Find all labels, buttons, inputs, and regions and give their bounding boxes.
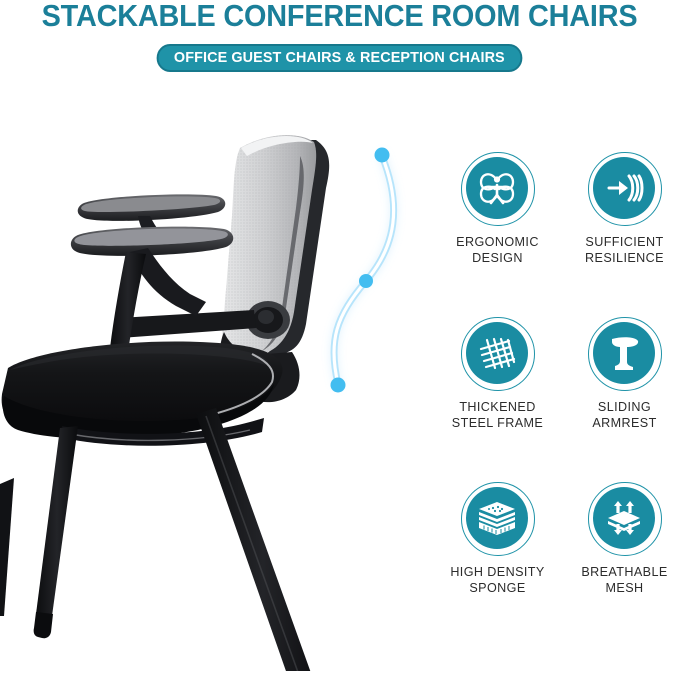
feature-sliding-armrest[interactable]: SLIDINGARMREST [564,317,679,431]
page-title: STACKABLE CONFERENCE ROOM CHAIRS [24,0,655,34]
feature-icon-circle [461,482,535,556]
feature-label: SLIDINGARMREST [564,400,679,431]
feature-icon-circle [588,317,662,391]
resilience-flex-curve [300,136,420,406]
armrest-beam-icon [603,332,645,374]
airflow-layers-icon [602,496,646,540]
steel-mesh-grid-icon [475,331,519,375]
flex-dot-middle [359,274,373,288]
feature-sufficient-resilience[interactable]: SUFFICIENTRESILIENCE [564,152,679,266]
flex-curve-path [334,156,394,384]
status-badge: OFFICE GUEST CHAIRS & RECEPTION CHAIRS [157,44,522,72]
rear-leg [196,408,330,671]
feature-label: HIGH DENSITYSPONGE [437,565,558,596]
flex-dot-bottom [331,378,346,393]
lower-armrest-pad [71,227,233,256]
second-front-leg [0,478,14,616]
feature-icon-circle [461,152,535,226]
feature-icon-circle [588,482,662,556]
subtitle-badge-wrap: OFFICE GUEST CHAIRS & RECEPTION CHAIRS [0,44,679,72]
padded-seat [2,341,283,439]
feature-high-density-sponge[interactable]: HIGH DENSITYSPONGE [437,482,558,596]
feature-label: THICKENEDSTEEL FRAME [437,400,558,431]
feature-ergonomic-design[interactable]: ERGONOMICDESIGN [437,152,558,266]
front-leg [36,426,78,616]
feature-breathable-mesh[interactable]: BREATHABLEMESH [564,482,679,596]
feature-label: SUFFICIENTRESILIENCE [564,235,679,266]
header: STACKABLE CONFERENCE ROOM CHAIRS OFFICE … [0,0,679,84]
product-image [0,96,430,671]
flex-dot-top [375,148,390,163]
feature-label: ERGONOMICDESIGN [437,235,558,266]
upper-armrest-pad [78,194,226,220]
resilience-arrow-icon [603,167,645,209]
feature-icon-circle [461,317,535,391]
ergonomic-body-icon [476,167,518,209]
foam-layers-icon [475,496,519,540]
feature-thickened-steel-frame[interactable]: THICKENEDSTEEL FRAME [437,317,558,431]
feature-label: BREATHABLEMESH [564,565,679,596]
front-leg-foot [34,612,53,638]
feature-grid: ERGONOMICDESIGN [437,152,679,662]
product-infographic: STACKABLE CONFERENCE ROOM CHAIRS OFFICE … [0,0,679,677]
feature-icon-circle [588,152,662,226]
